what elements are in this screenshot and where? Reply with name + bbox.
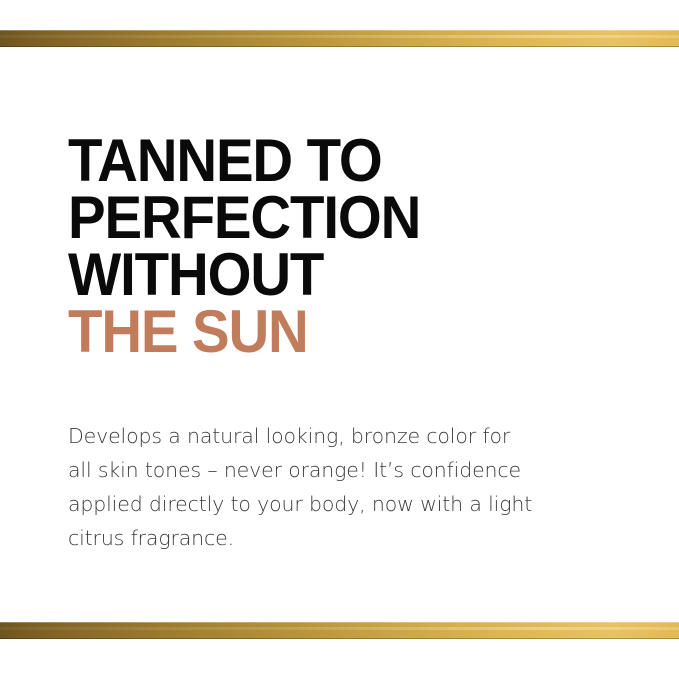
headline-line-1: TANNED TO bbox=[68, 132, 594, 189]
banner-content: TANNED TO PERFECTION WITHOUT THE SUN Dev… bbox=[68, 132, 628, 360]
headline-line-4-accent: THE SUN bbox=[68, 303, 594, 360]
headline-line-2: PERFECTION bbox=[68, 189, 594, 246]
gold-gradient-rule-top bbox=[0, 30, 679, 47]
body-copy-line-1: Develops a natural looking, bronze color… bbox=[68, 419, 613, 453]
body-copy-line-4: citrus fragrance. bbox=[68, 521, 613, 555]
headline-line-3: WITHOUT bbox=[68, 246, 594, 303]
gold-gradient-rule-bottom bbox=[0, 622, 679, 639]
body-copy-line-3: applied directly to your body, now with … bbox=[68, 487, 613, 521]
headline: TANNED TO PERFECTION WITHOUT THE SUN bbox=[68, 132, 594, 360]
body-copy-line-2: all skin tones – never orange! It’s conf… bbox=[68, 453, 613, 487]
marketing-banner: TANNED TO PERFECTION WITHOUT THE SUN Dev… bbox=[0, 0, 679, 679]
body-copy: Develops a natural looking, bronze color… bbox=[68, 419, 613, 555]
